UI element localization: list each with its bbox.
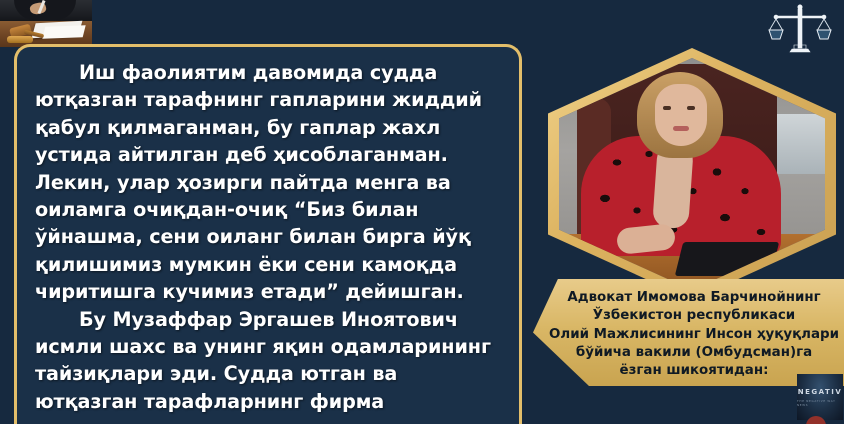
- face: [655, 84, 707, 146]
- quote-panel: Иш фаолиятим давомида судда ютқазган тар…: [14, 44, 522, 424]
- caption-text: Адвокат Имомова Барчинойнинг Ўзбекистон …: [548, 289, 840, 380]
- negativ-watermark-logo: NEGATIV THE NEGATIVE WAY NEWS: [797, 374, 843, 420]
- right-eye: [687, 106, 695, 110]
- portrait-frame: [548, 48, 836, 300]
- quote-text-body: Иш фаолиятим давомида судда ютқазган тар…: [35, 59, 505, 415]
- slide-canvas: Иш фаолиятим давомида судда ютқазган тар…: [0, 0, 844, 424]
- caption-line-2: Ўзбекистон республикаси: [548, 307, 840, 325]
- quote-paragraph-2: Бу Музаффар Эргашев Иноятович исмли шахс…: [35, 306, 505, 416]
- scales-of-justice-icon: [768, 4, 834, 54]
- left-eye: [663, 106, 671, 110]
- mouth: [673, 126, 689, 131]
- judge-gavel-photo: [0, 0, 92, 47]
- paper-sheet-second: [42, 25, 85, 38]
- caption-line-1: Адвокат Имомова Барчинойнинг: [548, 289, 840, 307]
- gavel-sound-block: [7, 36, 33, 43]
- quote-paragraph-1: Иш фаолиятим давомида судда ютқазган тар…: [35, 59, 505, 306]
- negativ-logo-text: NEGATIV: [798, 388, 843, 396]
- caption-line-3: Олий Мажлисининг Инсон ҳуқуқлари: [548, 326, 840, 344]
- caption-line-4: бўйича вакили (Омбудсман)га: [548, 344, 840, 362]
- negativ-logo-tagline: THE NEGATIVE WAY NEWS: [797, 399, 843, 407]
